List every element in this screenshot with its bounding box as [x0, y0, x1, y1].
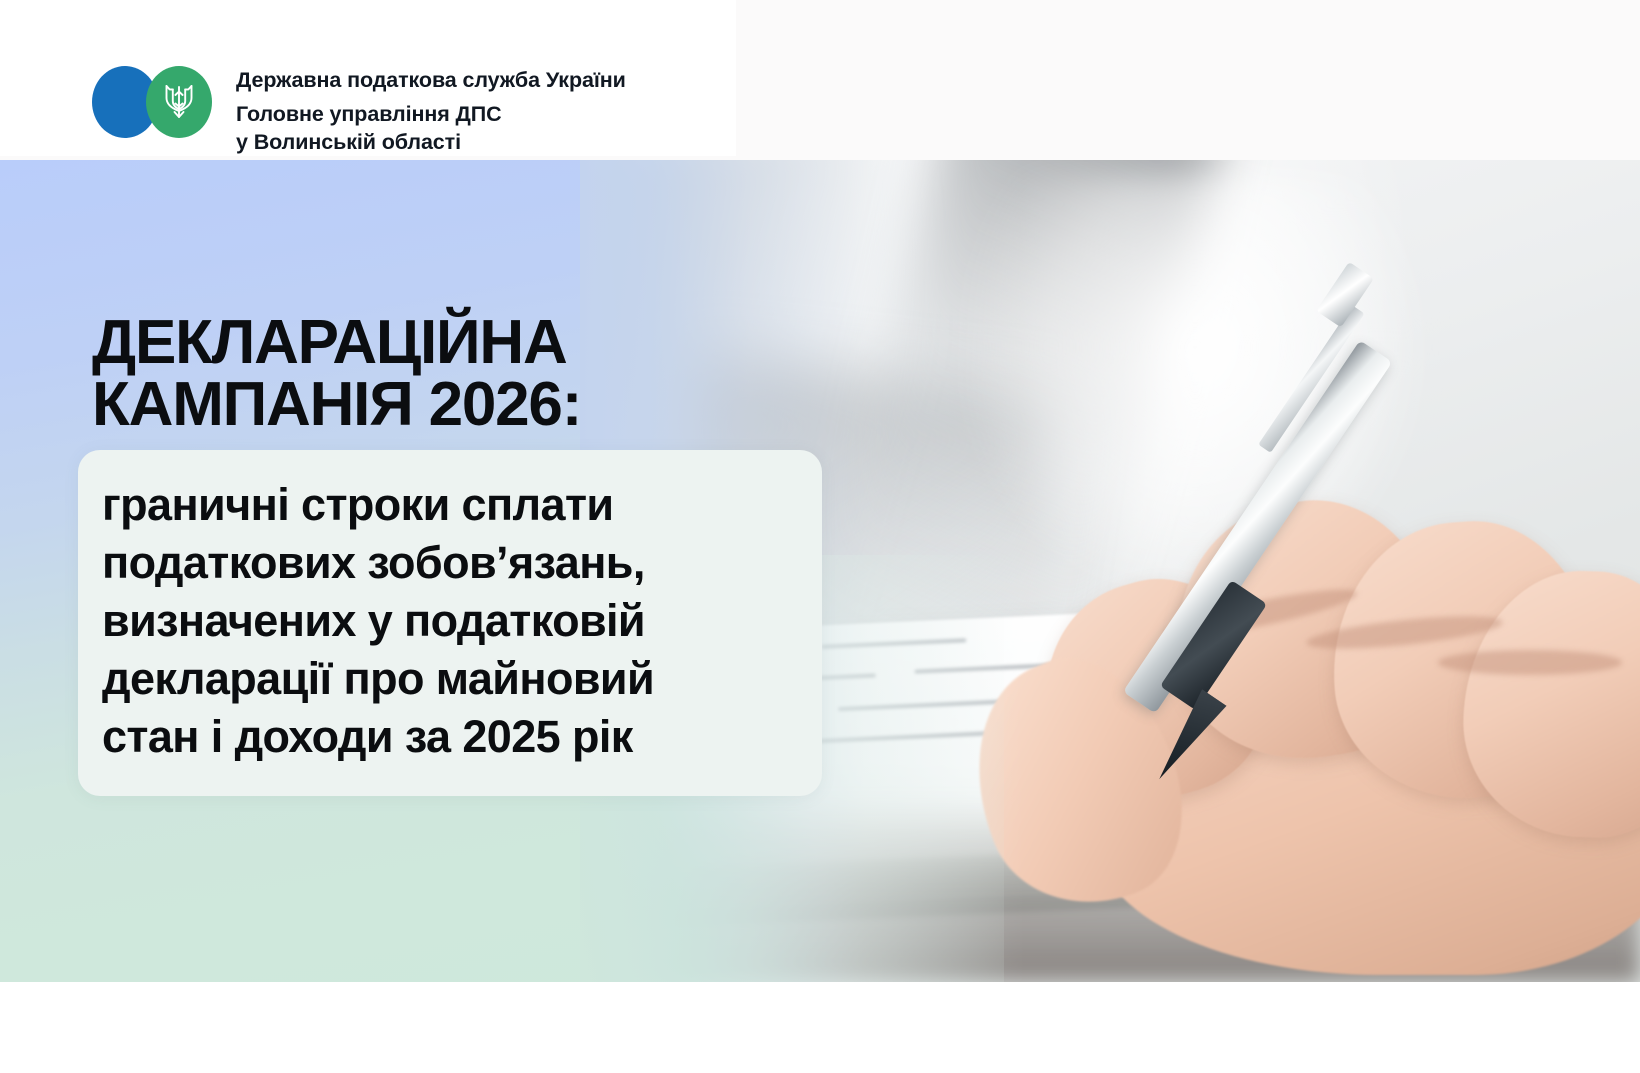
- body-text-line-5: стан і доходи за 2025 рік: [102, 708, 792, 766]
- ukraine-trident-emblem-icon: [146, 66, 212, 138]
- body-text-line-3: визначених у податковій: [102, 592, 792, 650]
- photo-pen-barrel: [1123, 340, 1393, 714]
- body-text-line-1: граничні строки сплати: [102, 476, 792, 534]
- body-text-card: граничні строки сплати податкових зобов’…: [78, 450, 822, 796]
- agency-name-block: Державна податкова служба України Головн…: [236, 66, 716, 156]
- banner-body: ДЕКЛАРАЦІЙНА КАМПАНІЯ 2026: граничні стр…: [0, 160, 1640, 982]
- agency-logo: [92, 66, 214, 138]
- agency-name-line-2: Головне управління ДПС: [236, 100, 716, 128]
- agency-name-line-3: у Волинській області: [236, 128, 716, 156]
- header-bar: Державна податкова служба України Головн…: [0, 0, 1640, 160]
- agency-name-line-1: Державна податкова служба України: [236, 66, 716, 94]
- headline-line-1: ДЕКЛАРАЦІЙНА: [92, 312, 852, 374]
- headline-line-2: КАМПАНІЯ 2026:: [92, 374, 852, 436]
- page-title: ДЕКЛАРАЦІЙНА КАМПАНІЯ 2026:: [92, 312, 852, 436]
- body-text-line-4: декларації про майновий: [102, 650, 792, 708]
- declaration-campaign-banner: Державна податкова служба України Головн…: [0, 0, 1640, 1073]
- photo-pen: [1152, 275, 1481, 768]
- body-text: граничні строки сплати податкових зобов’…: [102, 476, 792, 766]
- body-text-line-2: податкових зобов’язань,: [102, 534, 792, 592]
